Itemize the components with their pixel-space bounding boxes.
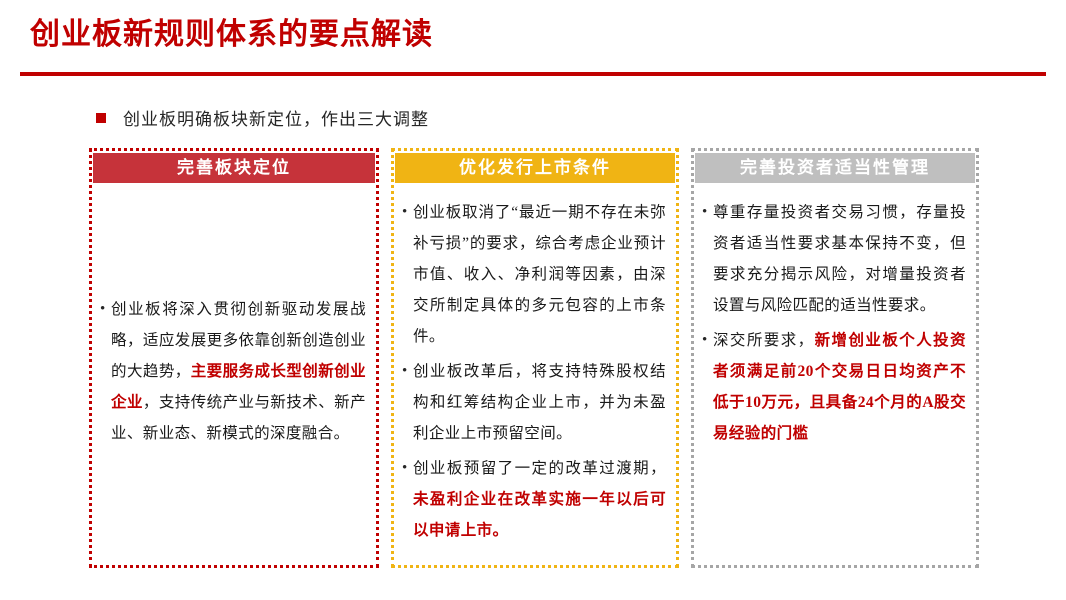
list-item: •创业板将深入贯彻创新驱动发展战略，适应发展更多依靠创新创造创业的大趋势，主要服… (100, 294, 366, 449)
plain-text: 创业板预留了一定的改革过渡期， (413, 460, 666, 477)
highlighted-text: 未盈利企业在改革实施一年以后可以申请上市。 (413, 491, 666, 539)
dot-bullet-icon: • (402, 453, 413, 484)
column-3-body: •尊重存量投资者交易习惯，存量投资者适当性要求基本保持不变，但要求充分揭示风险，… (694, 183, 976, 565)
list-item: •创业板改革后，将支持特殊股权结构和红筹结构企业上市，并为未盈利企业上市预留空间… (402, 356, 666, 449)
square-bullet-icon (96, 113, 106, 123)
list-item-text: 深交所要求，新增创业板个人投资者须满足前20个交易日日均资产不低于10万元，且具… (713, 325, 966, 449)
plain-text: 创业板取消了“最近一期不存在未弥补亏损”的要求，综合考虑企业预计市值、收入、净利… (413, 204, 666, 345)
plain-text: 创业板改革后，将支持特殊股权结构和红筹结构企业上市，并为未盈利企业上市预留空间。 (413, 363, 666, 442)
list-item-text: 创业板将深入贯彻创新驱动发展战略，适应发展更多依靠创新创造创业的大趋势，主要服务… (111, 294, 366, 449)
column-3-header: 完善投资者适当性管理 (695, 153, 975, 183)
list-item: •创业板预留了一定的改革过渡期，未盈利企业在改革实施一年以后可以申请上市。 (402, 453, 666, 546)
plain-text: 深交所要求， (713, 332, 815, 349)
page-title: 创业板新规则体系的要点解读 (30, 18, 433, 53)
column-2-body: •创业板取消了“最近一期不存在未弥补亏损”的要求，综合考虑企业预计市值、收入、净… (394, 183, 676, 565)
list-item: •尊重存量投资者交易习惯，存量投资者适当性要求基本保持不变，但要求充分揭示风险，… (702, 197, 966, 321)
subtitle-text: 创业板明确板块新定位，作出三大调整 (123, 105, 429, 130)
column-2-header: 优化发行上市条件 (395, 153, 675, 183)
title-divider-rule (20, 72, 1046, 76)
dot-bullet-icon: • (702, 325, 713, 356)
content-column-1: 完善板块定位 •创业板将深入贯彻创新驱动发展战略，适应发展更多依靠创新创造创业的… (89, 148, 379, 568)
list-item: •深交所要求，新增创业板个人投资者须满足前20个交易日日均资产不低于10万元，且… (702, 325, 966, 449)
dot-bullet-icon: • (402, 197, 413, 228)
list-item-text: 尊重存量投资者交易习惯，存量投资者适当性要求基本保持不变，但要求充分揭示风险，对… (713, 197, 966, 321)
list-item: •创业板取消了“最近一期不存在未弥补亏损”的要求，综合考虑企业预计市值、收入、净… (402, 197, 666, 352)
content-column-3: 完善投资者适当性管理 •尊重存量投资者交易习惯，存量投资者适当性要求基本保持不变… (691, 148, 979, 568)
plain-text: ，支持传统产业与新技术、新产业、新业态、新模式的深度融合。 (111, 394, 366, 442)
plain-text: 尊重存量投资者交易习惯，存量投资者适当性要求基本保持不变，但要求充分揭示风险，对… (713, 204, 966, 314)
column-1-body: •创业板将深入贯彻创新驱动发展战略，适应发展更多依靠创新创造创业的大趋势，主要服… (92, 183, 376, 565)
subtitle-row: 创业板明确板块新定位，作出三大调整 (96, 105, 429, 130)
dot-bullet-icon: • (702, 197, 713, 228)
dot-bullet-icon: • (100, 294, 111, 325)
column-1-header: 完善板块定位 (93, 153, 375, 183)
content-column-2: 优化发行上市条件 •创业板取消了“最近一期不存在未弥补亏损”的要求，综合考虑企业… (391, 148, 679, 568)
list-item-text: 创业板改革后，将支持特殊股权结构和红筹结构企业上市，并为未盈利企业上市预留空间。 (413, 356, 666, 449)
list-item-text: 创业板取消了“最近一期不存在未弥补亏损”的要求，综合考虑企业预计市值、收入、净利… (413, 197, 666, 352)
dot-bullet-icon: • (402, 356, 413, 387)
list-item-text: 创业板预留了一定的改革过渡期，未盈利企业在改革实施一年以后可以申请上市。 (413, 453, 666, 546)
